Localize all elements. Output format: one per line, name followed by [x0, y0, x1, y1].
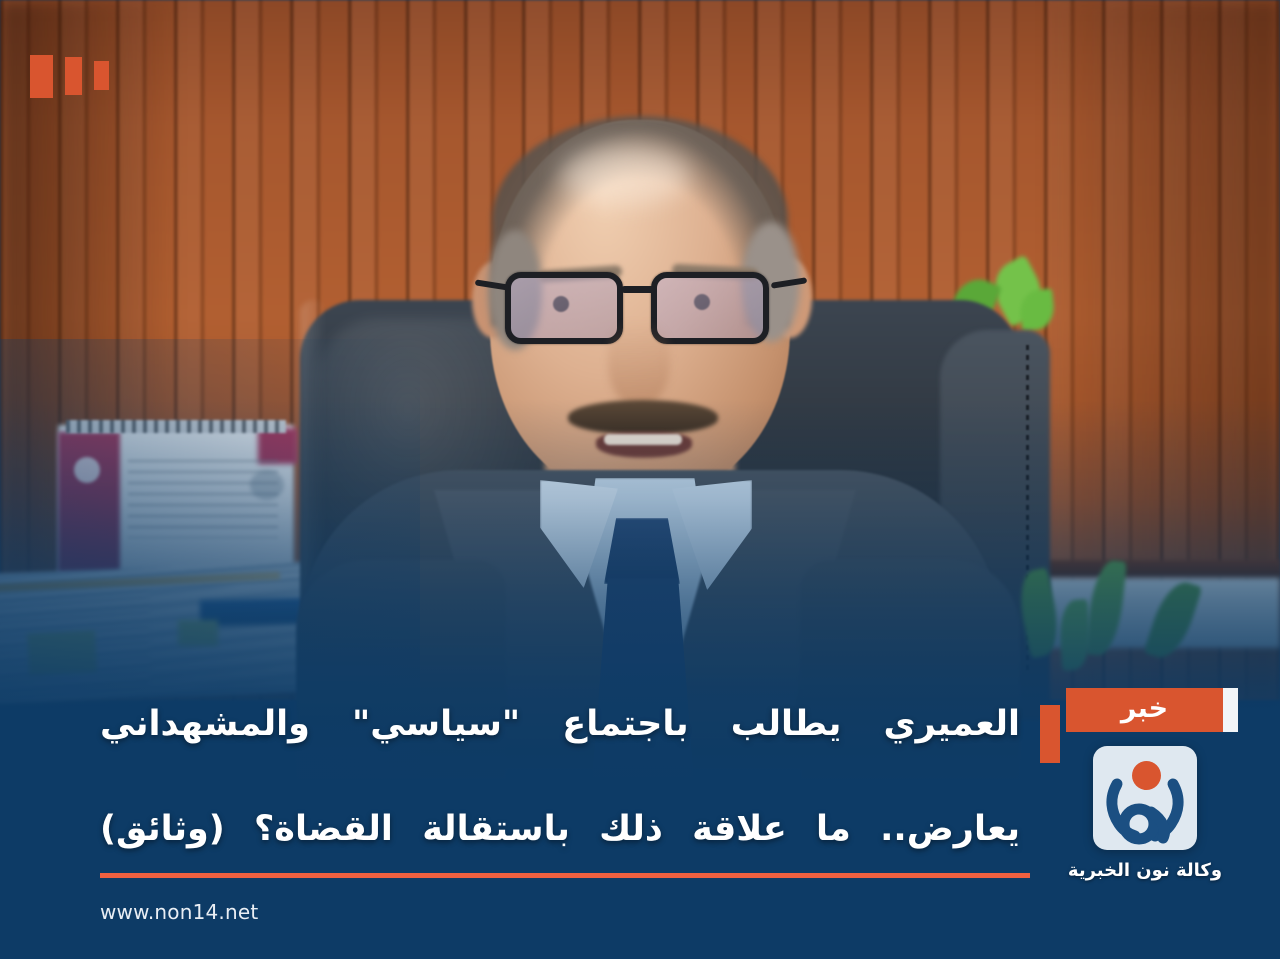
glasses-bridge: [621, 286, 655, 293]
glasses-lens-left: [505, 272, 623, 344]
headline-line-1: العميري يطالب باجتماع "سياسي" والمشهداني: [100, 700, 1020, 799]
brand-block: خبر وكالة نون الخبرية: [1040, 688, 1250, 881]
glasses-lens-right: [651, 272, 769, 344]
agency-name: وكالة نون الخبرية: [1068, 860, 1222, 881]
forehead-highlight: [560, 145, 690, 205]
corner-mark-3: [94, 61, 109, 90]
news-card: خبر وكالة نون الخبرية العميري يطالب باجت…: [0, 0, 1280, 959]
footer-divider: [100, 873, 1030, 878]
corner-accent-marks: [30, 55, 109, 98]
person-nose: [608, 320, 670, 408]
news-badge-tab: [1223, 688, 1238, 732]
news-badge-label: خبر: [1066, 688, 1223, 732]
logo-noon-glyph: [1093, 746, 1197, 850]
corner-mark-2: [65, 57, 82, 95]
news-badge: خبر: [1066, 688, 1238, 732]
noon-monogram-icon: [1093, 746, 1197, 850]
site-url: www.non14.net: [100, 900, 258, 924]
headline-line-2: يعارض.. ما علاقة ذلك باستقالة القضاة؟ (و…: [100, 805, 1020, 904]
corner-mark-1: [30, 55, 53, 98]
headline-accent-bar: [1040, 705, 1060, 763]
